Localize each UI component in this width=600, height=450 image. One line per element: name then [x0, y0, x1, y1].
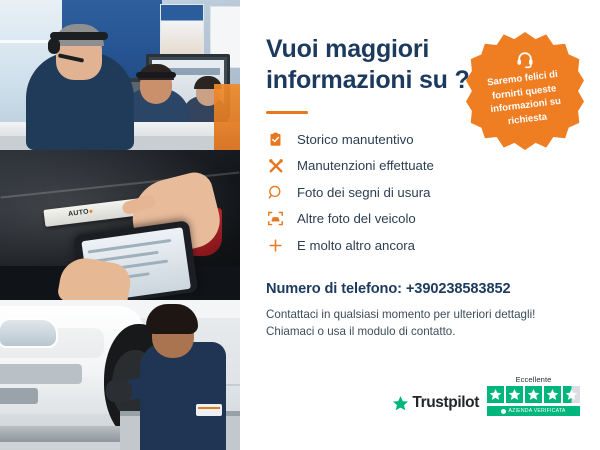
- photo-call-centre-agents: [0, 0, 240, 150]
- feature-item-molto-altro: E molto altro ancora: [266, 232, 576, 259]
- promo-badge: Saremo felici di fornirti queste informa…: [466, 32, 584, 150]
- photo-vehicle-inspection: AUTO●: [0, 150, 240, 300]
- trustpilot-stars: [487, 386, 580, 403]
- magnifier-icon: [266, 183, 285, 202]
- feature-label: Storico manutentivo: [297, 132, 414, 147]
- star-filled: [487, 386, 504, 403]
- advertisement-card: AUTO●: [0, 0, 600, 450]
- contact-subtext-line-1: Contattaci in qualsiasi momento per ulte…: [266, 306, 576, 324]
- agent-middle-headset-decor: [136, 72, 176, 78]
- verified-business-badge: AZIENDA VERIFICATA: [487, 406, 580, 416]
- agent-front-headset-ear-decor: [48, 38, 60, 54]
- feature-label: Altre foto del veicolo: [297, 211, 416, 226]
- gauge-brand-decor: AUTO●: [68, 208, 94, 218]
- orange-equipment-decor: [214, 84, 240, 150]
- trustpilot-rating-block: Eccellente: [487, 375, 580, 416]
- star-half: [563, 386, 580, 403]
- contact-subtext: Contattaci in qualsiasi momento per ulte…: [266, 306, 576, 342]
- poster-decor: [160, 4, 204, 58]
- phone-number-line[interactable]: Numero di telefono: +390238583852: [266, 281, 576, 297]
- star-filled: [544, 386, 561, 403]
- agent-front-headset-band-decor: [50, 32, 108, 40]
- check-icon: [501, 409, 506, 414]
- feature-label: Manutenzioni effettuate: [297, 158, 434, 173]
- plus-icon: [266, 236, 285, 255]
- car-scan-frame-icon: [266, 209, 285, 228]
- feature-label: E molto altro ancora: [297, 238, 415, 253]
- star-filled: [506, 386, 523, 403]
- mechanic-hair-decor: [146, 304, 198, 334]
- star-filled: [525, 386, 542, 403]
- feature-item-altre-foto-veicolo: Altre foto del veicolo: [266, 206, 576, 233]
- feature-item-foto-segni-usura: Foto dei segni di usura: [266, 179, 576, 206]
- crossed-tools-icon: [266, 156, 285, 175]
- page-title: Vuoi maggiori informazioni su ?: [266, 34, 476, 95]
- feature-label: Foto dei segni di usura: [297, 185, 430, 200]
- title-divider: [266, 111, 308, 114]
- trustpilot-logo: Trustpilot: [392, 394, 479, 416]
- contact-subtext-line-2: Chiamaci o usa il modulo di contatto.: [266, 323, 576, 341]
- feature-item-manutenzioni-effettuate: Manutenzioni effettuate: [266, 153, 576, 180]
- photo-mechanic-tyre-check: [0, 300, 240, 450]
- trustpilot-wordmark: Trustpilot: [412, 394, 479, 412]
- mechanic-glove-decor: [106, 380, 132, 402]
- trustpilot-star-icon: [392, 395, 409, 412]
- photo-column: AUTO●: [0, 0, 240, 450]
- trustpilot-rating-label: Eccellente: [487, 375, 580, 384]
- verified-business-label: AZIENDA VERIFICATA: [508, 408, 565, 414]
- content-panel: Vuoi maggiori informazioni su ? Saremo f…: [240, 0, 600, 450]
- clipboard-check-icon: [266, 130, 285, 149]
- trustpilot-widget[interactable]: Trustpilot Eccellente: [392, 375, 580, 416]
- headset-icon: [515, 49, 535, 69]
